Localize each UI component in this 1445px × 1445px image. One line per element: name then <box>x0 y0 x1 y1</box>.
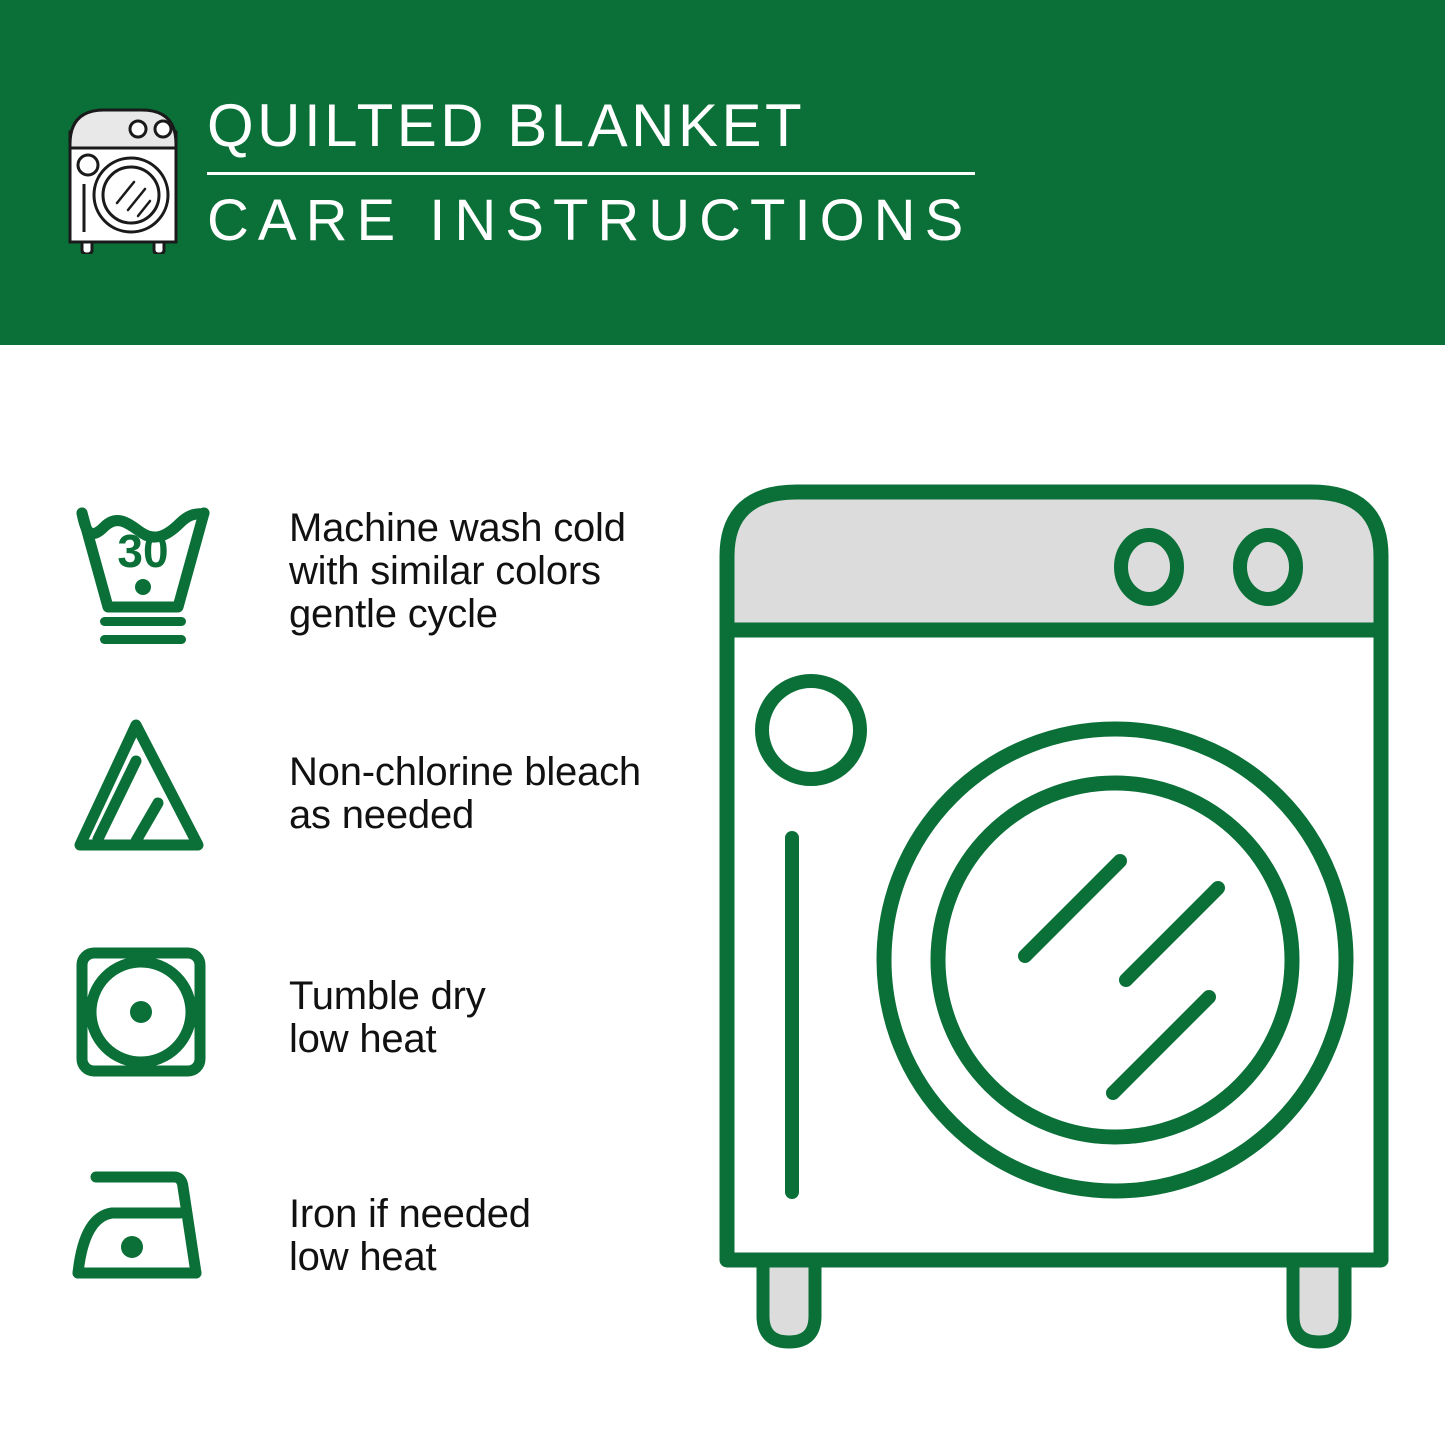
care-text-line: Machine wash cold <box>289 507 689 550</box>
care-text-line: Tumble dry <box>289 975 689 1018</box>
care-text-line: gentle cycle <box>289 593 689 636</box>
care-row-text: Iron if needed low heat <box>289 1193 689 1279</box>
logo-washing-machine-icon <box>62 104 192 254</box>
non-chlorine-bleach-triangle-icon <box>70 713 235 873</box>
care-row-iron: Iron if needed low heat <box>0 1155 700 1325</box>
care-row-bleach: Non-chlorine bleach as needed <box>0 713 700 883</box>
tumble-dry-low-icon <box>70 937 235 1097</box>
care-instructions-infographic: QUILTED BLANKET CARE INSTRUCTIONS 30 <box>0 0 1445 1445</box>
care-text-line: Iron if needed <box>289 1193 689 1236</box>
wash-tub-30-gentle-icon: 30 <box>70 495 235 655</box>
title-block: QUILTED BLANKET CARE INSTRUCTIONS <box>207 96 997 250</box>
care-row-machine-wash: 30 Machine wash cold with similar colors… <box>0 495 700 665</box>
care-text-line: low heat <box>289 1018 689 1061</box>
care-text-line: as needed <box>289 794 689 837</box>
care-row-text: Tumble dry low heat <box>289 975 689 1061</box>
title-divider <box>207 172 975 175</box>
care-instruction-list: 30 Machine wash cold with similar colors… <box>0 345 700 1445</box>
washing-machine-illustration <box>715 470 1415 1370</box>
svg-text:30: 30 <box>117 525 168 577</box>
care-row-tumble-dry: Tumble dry low heat <box>0 937 700 1107</box>
header-banner: QUILTED BLANKET CARE INSTRUCTIONS <box>0 0 1445 345</box>
care-text-line: low heat <box>289 1236 689 1279</box>
care-text-line: with similar colors <box>289 550 689 593</box>
care-row-text: Machine wash cold with similar colors ge… <box>289 507 689 636</box>
page-subtitle: CARE INSTRUCTIONS <box>207 192 997 250</box>
care-row-text: Non-chlorine bleach as needed <box>289 751 689 837</box>
page-title: QUILTED BLANKET <box>207 96 997 156</box>
care-text-line: Non-chlorine bleach <box>289 751 689 794</box>
iron-low-heat-icon <box>70 1155 235 1315</box>
